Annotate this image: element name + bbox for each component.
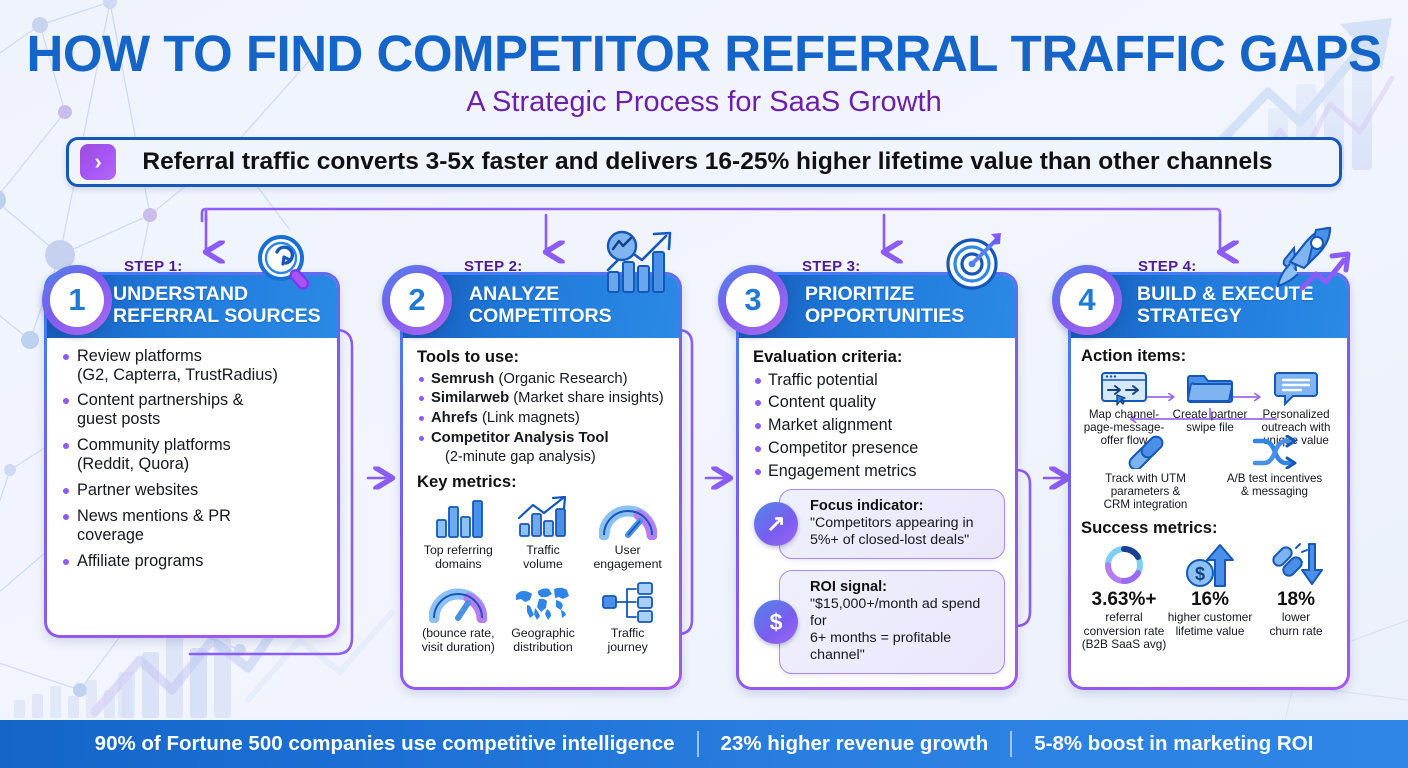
step-3-body: Evaluation criteria: Traffic potential C… xyxy=(739,338,1015,687)
success-cell: 18% lower churn rate xyxy=(1253,542,1339,651)
step-1-number-badge: 1 xyxy=(42,265,112,335)
svg-text:$: $ xyxy=(1195,564,1205,584)
gauge-icon xyxy=(417,579,500,623)
success-caption: higher customer lifetime value xyxy=(1167,611,1253,638)
tool-detail: (Market share insights) xyxy=(513,390,663,406)
list-item: Competitor presence xyxy=(753,439,1005,458)
tool-name: Ahrefs xyxy=(431,410,478,426)
tool-detail: (Link magnets) xyxy=(482,410,580,426)
success-cell: $ 16% higher customer lifetime value xyxy=(1167,542,1253,651)
step-1-body: Review platforms (G2, Capterra, TrustRad… xyxy=(47,338,337,635)
list-item: News mentions & PR coverage xyxy=(61,507,327,545)
step-2-body: Tools to use: Semrush (Organic Research)… xyxy=(403,338,679,687)
step-4-card: BUILD & EXECUTE STRATEGY Action items: xyxy=(1068,272,1350,690)
callout-title: ROI signal: xyxy=(810,579,994,596)
target-dart-icon xyxy=(944,232,1006,292)
step-2-card: ANALYZE COMPETITORS Tools to use: Semrus… xyxy=(400,272,682,690)
list-item: Traffic potential xyxy=(753,371,1005,390)
donut-chart-icon xyxy=(1081,542,1167,588)
step-2-number-badge: 2 xyxy=(382,265,452,335)
broken-chain-arrow-down-icon xyxy=(1253,542,1339,588)
success-value: 16% xyxy=(1167,590,1253,611)
footer-stat: 23% higher revenue growth xyxy=(699,732,1011,756)
metric-cell: (bounce rate, visit duration) xyxy=(417,579,500,654)
step-3-number: 3 xyxy=(726,273,780,327)
browser-flow-icon xyxy=(1081,370,1167,406)
roi-signal-callout: $ ROI signal: "$15,000+/month ad spend f… xyxy=(779,570,1005,674)
footer-stat: 90% of Fortune 500 companies use competi… xyxy=(73,732,697,756)
step-1-number: 1 xyxy=(50,273,104,327)
list-item: Content quality xyxy=(753,393,1005,412)
action-caption: Track with UTM parameters & CRM integrat… xyxy=(1081,472,1210,511)
banner-text: Referral traffic converts 3-5x faster an… xyxy=(116,148,1339,176)
callout-title: Focus indicator: xyxy=(810,498,994,515)
action-caption: A/B test incentives & messaging xyxy=(1210,472,1339,498)
trend-up-chart-icon xyxy=(502,496,585,540)
tool-name: Competitor Analysis Tool xyxy=(431,430,609,446)
success-value: 18% xyxy=(1253,590,1339,611)
action-caption: Create partner swipe file xyxy=(1167,408,1253,434)
tools-heading: Tools to use: xyxy=(417,347,669,367)
page-title: HOW TO FIND COMPETITOR REFERRAL TRAFFIC … xyxy=(0,24,1408,83)
criteria-list: Traffic potential Content quality Market… xyxy=(753,371,1005,481)
list-item: Similarweb (Market share insights) xyxy=(417,390,669,408)
metric-caption: User engagement xyxy=(586,543,669,571)
metric-cell: Traffic journey xyxy=(586,579,669,654)
magnifier-icon xyxy=(253,232,319,294)
success-metrics-grid: 3.63%+ referral conversion rate (B2B Saa… xyxy=(1081,542,1339,651)
callout-text: "$15,000+/month ad spend for 6+ months =… xyxy=(810,596,994,664)
tool-name: Similarweb xyxy=(431,390,509,406)
dollar-sign-icon: $ xyxy=(754,600,798,644)
bar-chart-icon xyxy=(417,496,500,540)
metric-caption: Geographic distribution xyxy=(502,626,585,654)
metric-caption: Traffic volume xyxy=(502,543,585,571)
list-item: Review platforms (G2, Capterra, TrustRad… xyxy=(61,347,327,385)
step-4-number-badge: 4 xyxy=(1052,265,1122,335)
bar-chart-growth-icon xyxy=(600,230,676,296)
tool-detail: (Organic Research) xyxy=(498,371,627,387)
list-item: Competitor Analysis Tool xyxy=(417,430,669,448)
tools-list: Semrush (Organic Research) Similarweb (M… xyxy=(417,371,669,448)
action-items-grid-2: Track with UTM parameters & CRM integrat… xyxy=(1081,434,1339,511)
metrics-heading: Key metrics: xyxy=(417,472,669,492)
step-4-number: 4 xyxy=(1060,273,1114,327)
success-caption: referral conversion rate (B2B SaaS avg) xyxy=(1081,611,1167,651)
footer-stat: 5-8% boost in marketing ROI xyxy=(1012,732,1335,756)
list-item: Semrush (Organic Research) xyxy=(417,371,669,389)
action-heading: Action items: xyxy=(1081,346,1339,366)
page-subtitle: A Strategic Process for SaaS Growth xyxy=(0,86,1408,119)
list-item: Community platforms (Reddit, Quora) xyxy=(61,436,327,474)
callout-text: "Competitors appearing in 5%+ of closed-… xyxy=(810,515,994,549)
success-value: 3.63%+ xyxy=(1081,590,1167,611)
flow-tree-icon xyxy=(586,579,669,623)
list-item: Affiliate programs xyxy=(61,552,327,571)
tool-sub-detail: (2-minute gap analysis) xyxy=(431,449,669,466)
folder-icon xyxy=(1167,370,1253,406)
key-stat-banner: › Referral traffic converts 3-5x faster … xyxy=(66,137,1342,187)
metric-caption: Top referring domains xyxy=(417,543,500,571)
metric-cell: Top referring domains xyxy=(417,496,500,571)
metric-cell: Traffic volume xyxy=(502,496,585,571)
metric-caption: Traffic journey xyxy=(586,626,669,654)
chevron-right-icon: › xyxy=(80,144,116,180)
metric-caption: (bounce rate, visit duration) xyxy=(417,626,500,654)
world-map-icon xyxy=(502,579,585,623)
step-2-number: 2 xyxy=(390,273,444,327)
coin-arrow-up-icon: $ xyxy=(1167,542,1253,588)
arrow-up-right-icon: ↗ xyxy=(754,502,798,546)
link-chain-icon xyxy=(1081,434,1210,470)
list-item: Market alignment xyxy=(753,416,1005,435)
step-1-bullet-list: Review platforms (G2, Capterra, TrustRad… xyxy=(61,347,327,571)
step-4-body: Action items: xyxy=(1071,338,1347,687)
infographic-canvas: HOW TO FIND COMPETITOR REFERRAL TRAFFIC … xyxy=(0,0,1408,768)
list-item: Content partnerships & guest posts xyxy=(61,391,327,429)
step-3-card: PRIORITIZE OPPORTUNITIES Evaluation crit… xyxy=(736,272,1018,690)
step-3-number-badge: 3 xyxy=(718,265,788,335)
criteria-heading: Evaluation criteria: xyxy=(753,347,1005,367)
metric-cell: User engagement xyxy=(586,496,669,571)
list-item: Ahrefs (Link magnets) xyxy=(417,410,669,428)
metric-cell: Geographic distribution xyxy=(502,579,585,654)
tool-name: Semrush xyxy=(431,371,494,387)
action-cell: A/B test incentives & messaging xyxy=(1210,434,1339,511)
success-heading: Success metrics: xyxy=(1081,518,1339,538)
shuffle-icon xyxy=(1210,434,1339,470)
focus-indicator-callout: ↗ Focus indicator: "Competitors appearin… xyxy=(779,489,1005,559)
success-caption: lower churn rate xyxy=(1253,611,1339,638)
list-item: Engagement metrics xyxy=(753,462,1005,481)
gauge-icon xyxy=(586,496,669,540)
footer-stats-bar: 90% of Fortune 500 companies use competi… xyxy=(0,720,1408,768)
chat-bubble-icon xyxy=(1253,370,1339,406)
list-item: Partner websites xyxy=(61,481,327,500)
success-cell: 3.63%+ referral conversion rate (B2B Saa… xyxy=(1081,542,1167,651)
action-cell: Track with UTM parameters & CRM integrat… xyxy=(1081,434,1210,511)
key-metrics-grid: Top referring domains xyxy=(417,496,669,654)
rocket-icon xyxy=(1272,226,1352,292)
